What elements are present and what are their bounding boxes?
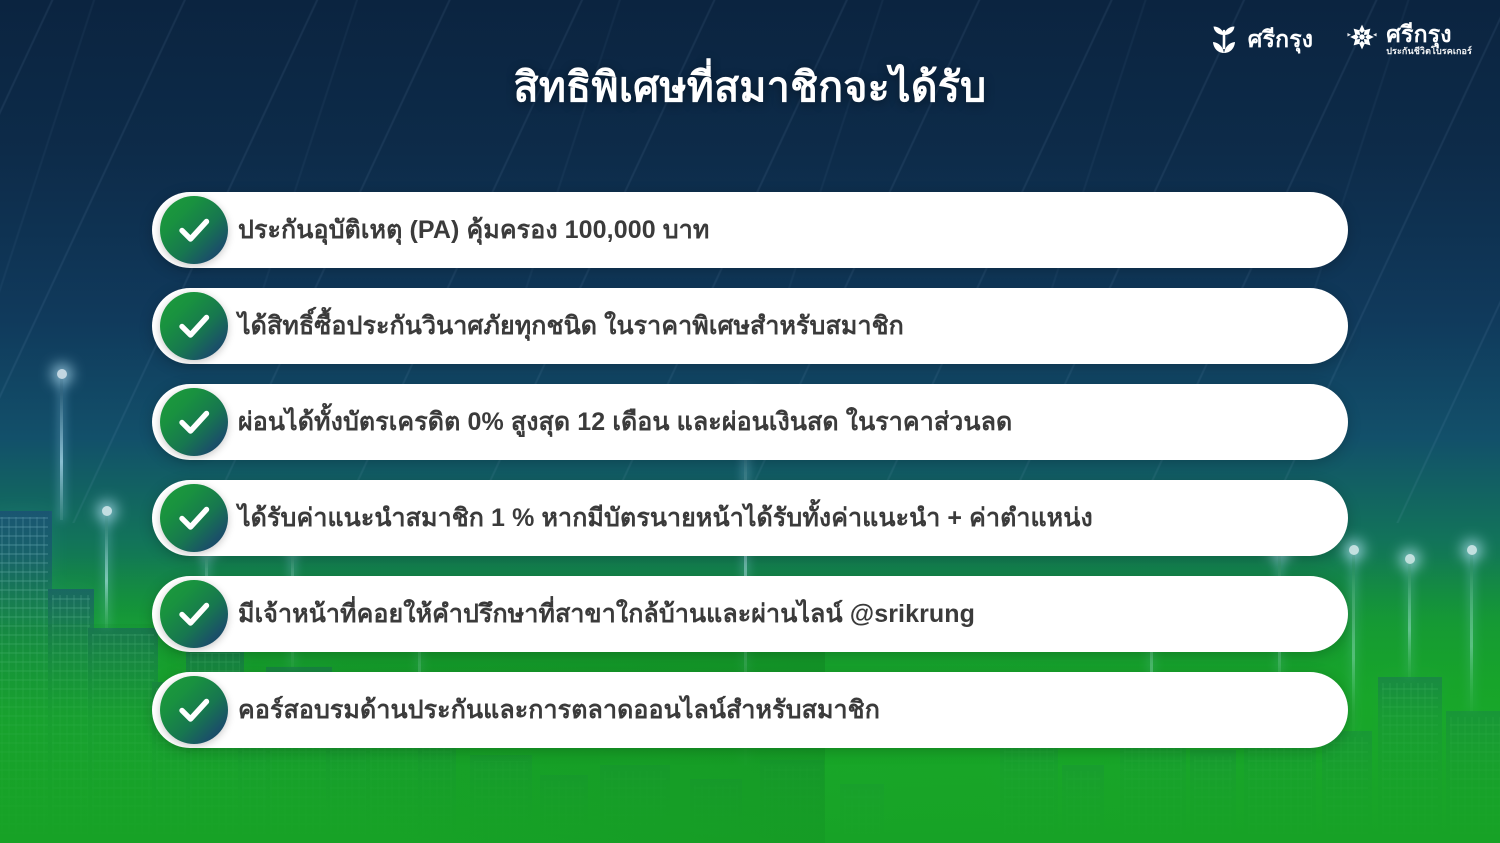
benefit-item-6[interactable]: คอร์สอบรมด้านประกันและการตลาดออนไลน์สำหร…	[152, 672, 1348, 748]
check-circle-icon	[160, 388, 228, 456]
benefits-list: ประกันอุบัติเหตุ (PA) คุ้มครอง 100,000 บ…	[152, 192, 1348, 748]
check-circle-icon	[160, 676, 228, 744]
benefit-item-5[interactable]: มีเจ้าหน้าที่คอยให้คำปรึกษาที่สาขาใกล้บ้…	[152, 576, 1348, 652]
logo-name: ศรีกรุง	[1386, 22, 1472, 46]
benefit-item-3[interactable]: ผ่อนได้ทั้งบัตรเครดิต 0% สูงสุด 12 เดือน…	[152, 384, 1348, 460]
page-title: สิทธิพิเศษที่สมาชิกจะได้รับ	[0, 55, 1500, 120]
benefit-label: ได้สิทธิ์ซื้อประกันวินาศภัยทุกชนิด ในราค…	[238, 312, 904, 341]
benefit-label: ประกันอุบัติเหตุ (PA) คุ้มครอง 100,000 บ…	[238, 216, 709, 245]
benefit-label: ผ่อนได้ทั้งบัตรเครดิต 0% สูงสุด 12 เดือน…	[238, 408, 1012, 437]
benefit-label: มีเจ้าหน้าที่คอยให้คำปรึกษาที่สาขาใกล้บ้…	[238, 600, 975, 629]
brand-logo-bar: ศรีกรุง	[1209, 22, 1472, 57]
logo-srikrung-life-broker[interactable]: ศรีกรุง ประกันชีวิตโบรคเกอร์	[1347, 22, 1472, 57]
benefit-label: คอร์สอบรมด้านประกันและการตลาดออนไลน์สำหร…	[238, 696, 880, 725]
benefit-item-1[interactable]: ประกันอุบัติเหตุ (PA) คุ้มครอง 100,000 บ…	[152, 192, 1348, 268]
sprout-leaf-icon	[1209, 22, 1239, 56]
check-circle-icon	[160, 484, 228, 552]
check-circle-icon	[160, 196, 228, 264]
presentation-slide: ศรีกรุง	[0, 0, 1500, 843]
check-circle-icon	[160, 580, 228, 648]
check-circle-icon	[160, 292, 228, 360]
benefit-item-4[interactable]: ได้รับค่าแนะนำสมาชิก 1 % หากมีบัตรนายหน้…	[152, 480, 1348, 556]
logo-name: ศรีกรุง	[1248, 27, 1313, 51]
benefit-label: ได้รับค่าแนะนำสมาชิก 1 % หากมีบัตรนายหน้…	[238, 504, 1093, 533]
logo-srikrung-primary[interactable]: ศรีกรุง	[1209, 22, 1313, 56]
benefit-item-2[interactable]: ได้สิทธิ์ซื้อประกันวินาศภัยทุกชนิด ในราค…	[152, 288, 1348, 364]
starburst-icon	[1347, 22, 1377, 56]
